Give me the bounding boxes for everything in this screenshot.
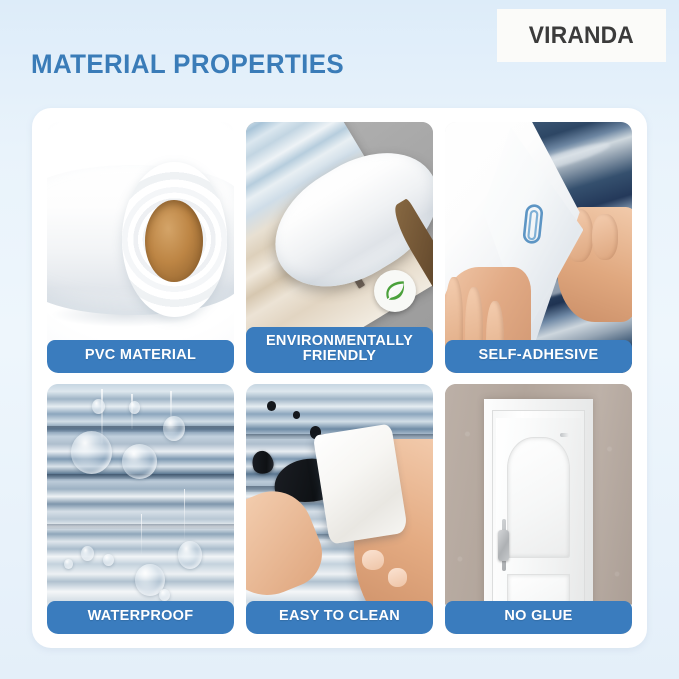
feature-panel-no-glue[interactable]: NO GLUE [445,384,632,635]
brand-logo-text: VIRANDA [529,22,634,50]
feature-panel-pvc-material[interactable]: PVC MATERIAL [47,122,234,373]
feature-caption: SELF-ADHESIVE [445,340,632,373]
feature-caption-line: ENVIRONMENTALLY [266,333,413,349]
feature-caption-line: SELF-ADHESIVE [479,348,599,363]
roll-core [145,200,203,283]
door-frame [484,399,592,634]
pvc-roll-photo [47,122,234,373]
feature-panel-waterproof[interactable]: WATERPROOF [47,384,234,635]
self-adhesive-photo [445,122,632,373]
page-title: MATERIAL PROPERTIES [31,49,344,80]
page-header: MATERIAL PROPERTIES VIRANDA [0,0,679,108]
feature-caption: EASY TO CLEAN [246,601,433,634]
features-grid: PVC MATERIAL [47,122,632,634]
feature-panel-self-adhesive[interactable]: SELF-ADHESIVE [445,122,632,373]
feature-caption-line: NO GLUE [504,609,572,624]
cleaning-cloth [313,423,408,544]
brand-logo: VIRANDA [497,9,666,62]
feature-caption-line: WATERPROOF [88,609,194,624]
feature-caption: ENVIRONMENTALLY FRIENDLY [246,327,433,373]
green-leaf-icon [382,278,408,304]
feature-caption: NO GLUE [445,601,632,634]
feature-caption-line: FRIENDLY [303,348,377,364]
paperclip-icon [518,201,548,247]
door-handle [498,530,509,560]
no-glue-door-photo [445,384,632,635]
feature-caption-line: PVC MATERIAL [85,348,196,363]
easy-to-clean-photo [246,384,433,635]
feature-caption-line: EASY TO CLEAN [279,609,400,624]
feature-caption: PVC MATERIAL [47,340,234,373]
waterproof-photo [47,384,234,635]
features-card: PVC MATERIAL [32,108,647,648]
feature-panel-environmentally-friendly[interactable]: ENVIRONMENTALLY FRIENDLY [246,122,433,373]
feature-panel-easy-to-clean[interactable]: EASY TO CLEAN [246,384,433,635]
feature-caption: WATERPROOF [47,601,234,634]
